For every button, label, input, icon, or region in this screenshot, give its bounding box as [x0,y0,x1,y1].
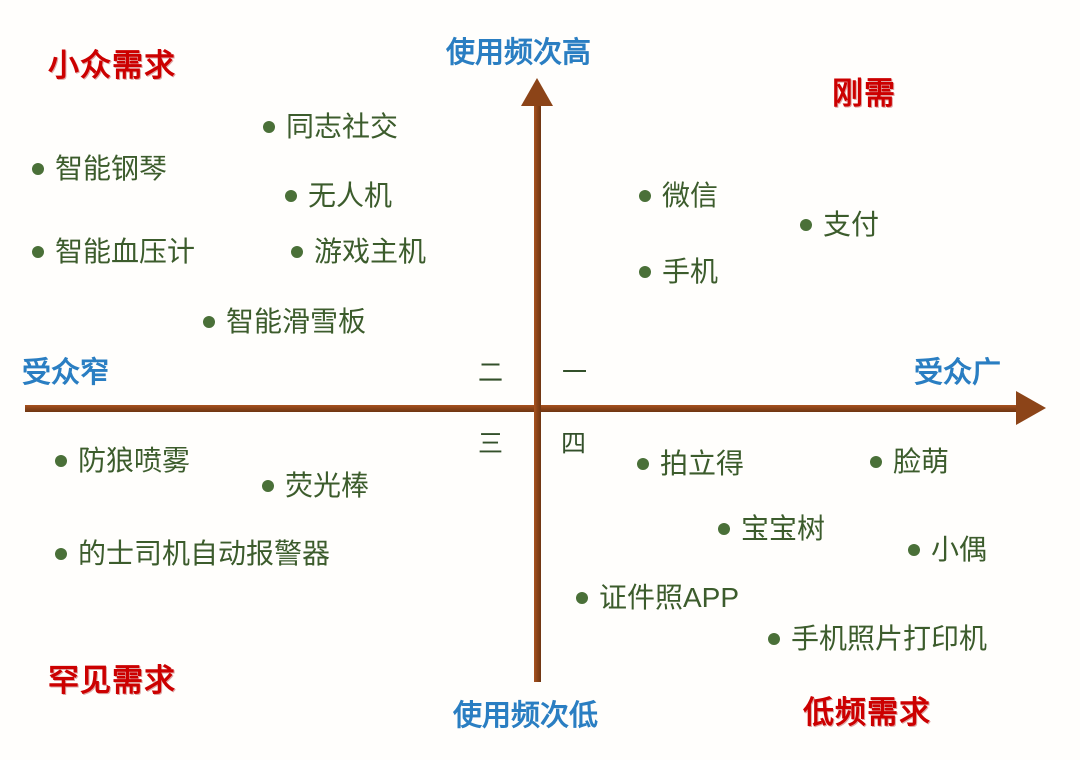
horizontal-axis-line [25,405,1025,412]
list-item-label: 智能血压计 [55,238,195,266]
axis-label-audience-broad: 受众广 [914,349,1001,391]
quadrant-diagram-canvas: 小众需求 刚需 罕见需求 低频需求 使用频次高 使用频次低 受众窄 受众广 一 … [0,0,1080,760]
list-item[interactable]: 小偶 [908,536,987,564]
list-item-label: 拍立得 [660,450,744,478]
bullet-dot-icon [291,246,303,258]
list-item[interactable]: 脸萌 [870,448,949,476]
bullet-dot-icon [639,266,651,278]
list-item-label: 同志社交 [286,113,398,141]
quadrant-number-four: 四 [561,424,586,460]
list-item[interactable]: 智能钢琴 [32,155,167,183]
list-item-label: 防狼喷雾 [78,447,190,475]
bullet-dot-icon [576,592,588,604]
list-item[interactable]: 证件照APP [576,584,739,612]
list-item[interactable]: 手机 [639,258,718,286]
list-item[interactable]: 智能血压计 [32,238,195,266]
list-item[interactable]: 无人机 [285,182,392,210]
bullet-dot-icon [639,190,651,202]
quadrant-number-one: 一 [562,353,587,389]
list-item-label: 微信 [662,182,718,210]
list-item-label: 宝宝树 [741,515,825,543]
list-item-label: 证件照APP [599,584,739,612]
horizontal-axis-arrow-icon [1016,391,1046,425]
vertical-axis-arrow-icon [521,78,553,106]
axis-label-frequency-low: 使用频次低 [453,692,598,734]
bullet-dot-icon [32,246,44,258]
bullet-dot-icon [637,458,649,470]
bullet-dot-icon [718,523,730,535]
list-item-label: 智能钢琴 [55,155,167,183]
quadrant-number-two: 二 [478,353,503,389]
corner-label-bottom-right: 低频需求 [803,687,931,732]
list-item-label: 游戏主机 [314,238,426,266]
list-item[interactable]: 微信 [639,182,718,210]
axis-label-frequency-high: 使用频次高 [446,29,591,71]
list-item[interactable]: 支付 [800,211,879,239]
list-item-label: 荧光棒 [285,472,369,500]
bullet-dot-icon [263,121,275,133]
bullet-dot-icon [908,544,920,556]
bullet-dot-icon [768,633,780,645]
bullet-dot-icon [55,455,67,467]
list-item-label: 脸萌 [893,448,949,476]
list-item-label: 小偶 [931,536,987,564]
axis-label-audience-narrow: 受众窄 [22,349,109,391]
list-item[interactable]: 宝宝树 [718,515,825,543]
list-item[interactable]: 拍立得 [637,450,744,478]
list-item-label: 手机照片打印机 [791,625,987,653]
list-item-label: 手机 [662,258,718,286]
list-item[interactable]: 同志社交 [263,113,398,141]
bullet-dot-icon [55,548,67,560]
bullet-dot-icon [800,219,812,231]
bullet-dot-icon [203,316,215,328]
list-item[interactable]: 智能滑雪板 [203,308,366,336]
corner-label-top-right: 刚需 [832,68,896,113]
vertical-axis-line [534,90,541,682]
list-item-label: 的士司机自动报警器 [78,540,330,568]
list-item[interactable]: 手机照片打印机 [768,625,987,653]
bullet-dot-icon [285,190,297,202]
corner-label-top-left: 小众需求 [48,40,176,85]
list-item-label: 智能滑雪板 [226,308,366,336]
bullet-dot-icon [262,480,274,492]
list-item[interactable]: 荧光棒 [262,472,369,500]
list-item[interactable]: 防狼喷雾 [55,447,190,475]
bullet-dot-icon [32,163,44,175]
list-item-label: 无人机 [308,182,392,210]
quadrant-number-three: 三 [478,424,503,460]
bullet-dot-icon [870,456,882,468]
list-item[interactable]: 的士司机自动报警器 [55,540,330,568]
corner-label-bottom-left: 罕见需求 [48,655,176,700]
list-item[interactable]: 游戏主机 [291,238,426,266]
list-item-label: 支付 [823,211,879,239]
